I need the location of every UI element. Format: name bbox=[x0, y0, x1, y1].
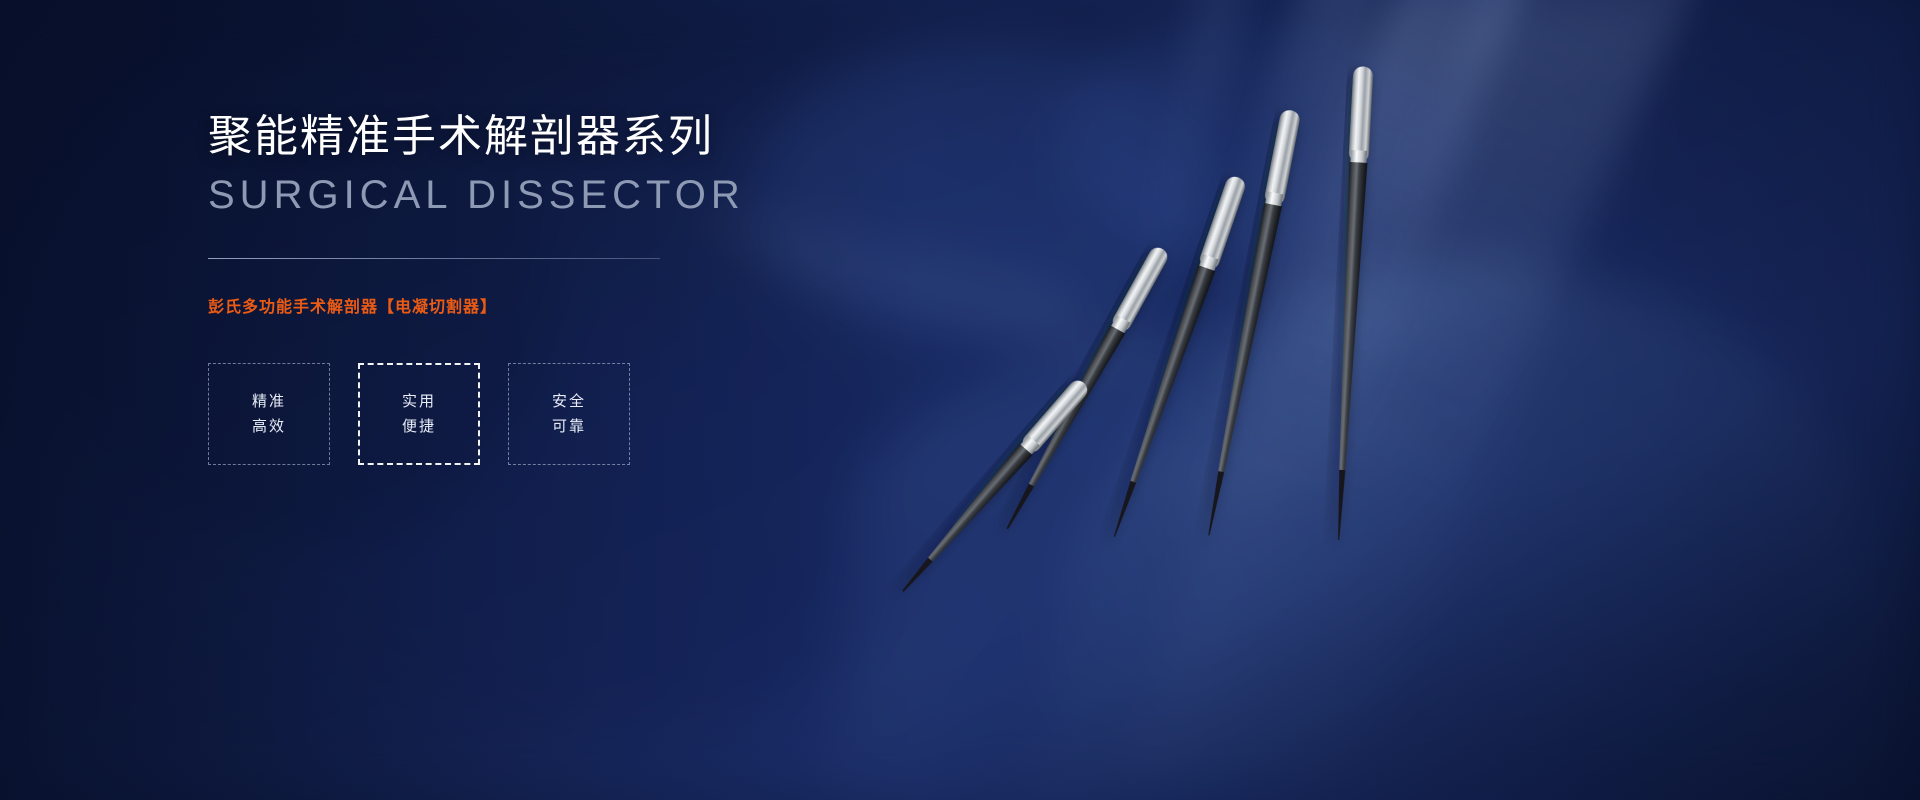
feature-box-safety[interactable]: 安全 可靠 bbox=[508, 363, 630, 465]
product-name: 彭氏多功能手术解剖器【电凝切割器】 bbox=[208, 293, 908, 317]
product-hero-banner: 聚能精准手术解剖器系列 SURGICAL DISSECTOR 彭氏多功能手术解剖… bbox=[0, 0, 1920, 800]
feature-line-2: 可靠 bbox=[552, 419, 586, 434]
feature-line-1: 安全 bbox=[552, 394, 586, 409]
divider bbox=[208, 258, 660, 259]
feature-box-practical[interactable]: 实用 便捷 bbox=[358, 363, 480, 465]
feature-line-1: 精准 bbox=[252, 394, 286, 409]
feature-line-1: 实用 bbox=[402, 394, 436, 409]
feature-line-2: 高效 bbox=[252, 419, 286, 434]
feature-box-precision[interactable]: 精准 高效 bbox=[208, 363, 330, 465]
feature-line-2: 便捷 bbox=[402, 419, 436, 434]
page-title: 聚能精准手术解剖器系列 bbox=[208, 110, 908, 164]
banner-text-block: 聚能精准手术解剖器系列 SURGICAL DISSECTOR 彭氏多功能手术解剖… bbox=[208, 110, 908, 465]
feature-box-group: 精准 高效 实用 便捷 安全 可靠 bbox=[208, 363, 908, 465]
page-subtitle-english: SURGICAL DISSECTOR bbox=[208, 172, 908, 218]
